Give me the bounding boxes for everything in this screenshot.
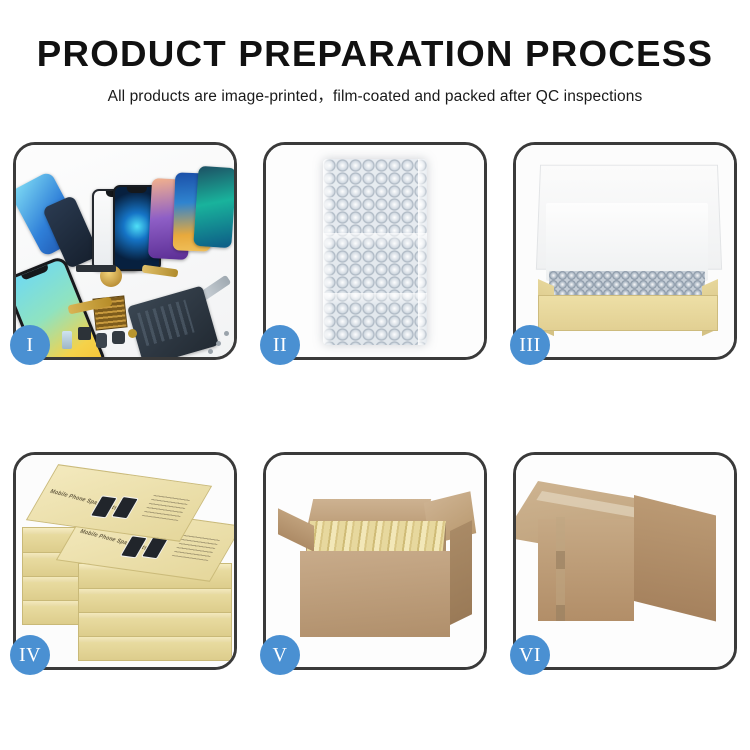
step-badge-6: VI (510, 635, 550, 675)
step-panel-1[interactable]: I (13, 142, 237, 360)
step-panel-2[interactable]: II (263, 142, 487, 360)
step-panel-4[interactable]: Mobile Phone Spare Parts Mobile Phone Sp… (13, 452, 237, 670)
page-header: PRODUCT PREPARATION PROCESS All products… (0, 0, 750, 106)
phone-parts-icon (16, 145, 234, 357)
step-badge-2: II (260, 325, 300, 365)
bubble-wrap-icon (266, 145, 484, 357)
page-title: PRODUCT PREPARATION PROCESS (0, 36, 750, 72)
page-subtitle: All products are image-printed，film-coat… (0, 84, 750, 106)
step-panel-6[interactable]: VI (513, 452, 737, 670)
stacked-boxes-icon: Mobile Phone Spare Parts Mobile Phone Sp… (16, 455, 234, 667)
sealed-carton-icon (516, 455, 734, 667)
open-carton-icon (266, 455, 484, 667)
step-badge-1: I (10, 325, 50, 365)
step-badge-3: III (510, 325, 550, 365)
process-step-grid: I II III (13, 142, 737, 670)
step-panel-5[interactable]: V (263, 452, 487, 670)
step-badge-5: V (260, 635, 300, 675)
step-badge-4: IV (10, 635, 50, 675)
open-mailer-box-icon (516, 145, 734, 357)
step-panel-3[interactable]: III (513, 142, 737, 360)
